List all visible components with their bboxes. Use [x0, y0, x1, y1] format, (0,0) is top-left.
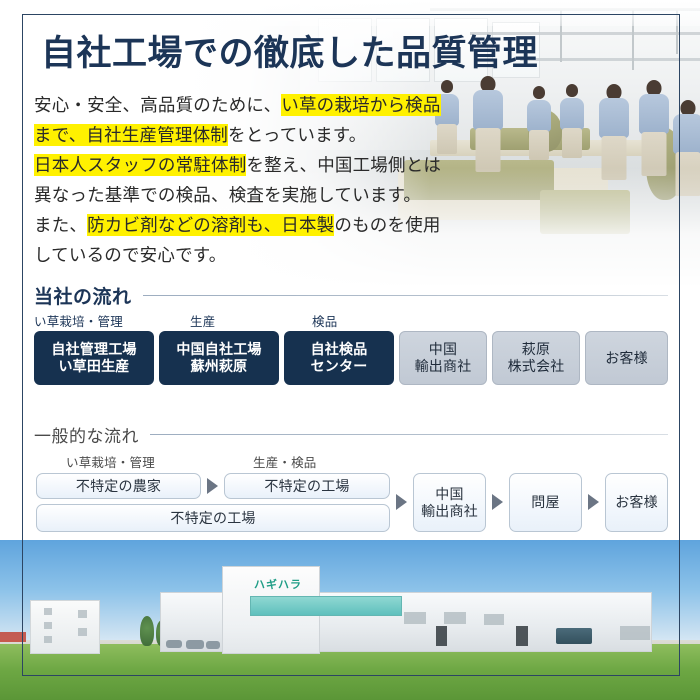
factory-exterior-photo: ハギハラ	[0, 540, 700, 700]
photo-fade-top	[0, 0, 700, 26]
flow-general-arrow-0	[207, 478, 218, 494]
flow-own-heading-row: 当社の流れ	[34, 282, 668, 309]
photo-tree	[140, 616, 154, 646]
page-title: 自社工場での徹底した品質管理	[41, 33, 538, 74]
photo-car	[166, 640, 182, 648]
photo-window	[484, 614, 504, 625]
highlighted-text: い草の栽培から検品	[281, 94, 440, 116]
highlighted-text: 防カビ剤などの溶剤も、日本製	[87, 214, 334, 236]
flow-general-heading: 一般的な流れ	[34, 422, 139, 447]
box-text: お客様	[615, 494, 658, 511]
box-text: 自社管理工場い草田生産	[51, 341, 136, 375]
photo-worker	[556, 84, 588, 176]
flow-own-column-label-1: 生産	[190, 311, 215, 330]
highlighted-text: まで、自社生産管理体制	[34, 124, 228, 146]
flow-own-box-2[interactable]: 自社検品センター	[284, 331, 394, 385]
box-text: お客様	[605, 350, 648, 367]
body-copy-line: しているので安心です。	[34, 240, 441, 270]
heading-rule	[150, 434, 668, 435]
flow-general-arrow-2	[492, 494, 503, 510]
box-text: 萩原株式会社	[508, 341, 565, 375]
body-copy-line: 日本人スタッフの常駐体制を整え、中国工場側とは	[34, 150, 441, 180]
photo-window	[404, 612, 426, 624]
flow-general-box-factory-top[interactable]: 不特定の工場	[224, 473, 390, 499]
flow-general-box-factory-wide[interactable]: 不特定の工場	[36, 504, 390, 532]
photo-window	[78, 628, 87, 636]
photo-window	[78, 610, 87, 618]
body-copy-line: 安心・安全、高品質のために、い草の栽培から検品	[34, 90, 441, 120]
flow-general-column-label-1: 生産・検品	[253, 452, 317, 471]
photo-car	[206, 641, 220, 649]
photo-glass-facade	[250, 596, 402, 616]
photo-car	[186, 640, 204, 649]
box-text: 不特定の工場	[264, 478, 349, 495]
infographic-page: 自社工場での徹底した品質管理 安心・安全、高品質のために、い草の栽培から検品まで…	[0, 0, 700, 700]
body-copy: 安心・安全、高品質のために、い草の栽培から検品まで、自社生産管理体制をとっていま…	[34, 90, 441, 270]
photo-window	[444, 612, 466, 624]
body-text: のものを使用	[334, 215, 440, 235]
flow-general-box-exporter[interactable]: 中国輸出商社	[413, 473, 486, 532]
box-text: 中国輸出商社	[415, 341, 472, 375]
body-copy-line: また、防カビ剤などの溶剤も、日本製のものを使用	[34, 210, 441, 240]
body-text: 安心・安全、高品質のために、	[34, 95, 281, 115]
photo-window	[44, 636, 52, 643]
company-logo-text: ハギハラ	[254, 576, 302, 592]
photo-window	[44, 608, 52, 615]
box-text: 問屋	[531, 494, 559, 511]
box-text: 不特定の農家	[76, 478, 161, 495]
box-text: 中国輸出商社	[421, 486, 478, 520]
heading-rule	[143, 295, 668, 296]
photo-truck	[556, 628, 592, 644]
flow-general-heading-row: 一般的な流れ	[34, 422, 668, 447]
flow-own-box-1[interactable]: 中国自社工場蘇州萩原	[159, 331, 279, 385]
flow-general-box-farm[interactable]: 不特定の農家	[36, 473, 201, 499]
flow-general-arrow-3	[588, 494, 599, 510]
photo-window	[620, 626, 650, 640]
highlighted-text: 日本人スタッフの常駐体制	[34, 154, 246, 176]
flow-own-box-3[interactable]: 中国輸出商社	[399, 331, 487, 385]
flow-general-arrow-1	[396, 494, 407, 510]
body-text: 異なった基準での検品、検査を実施しています。	[34, 185, 421, 205]
body-text: また、	[34, 215, 87, 235]
box-text: 自社検品センター	[311, 341, 368, 375]
flow-own-box-4[interactable]: 萩原株式会社	[492, 331, 580, 385]
flow-own-heading: 当社の流れ	[34, 282, 132, 309]
flow-general-column-label-0: い草栽培・管理	[66, 452, 155, 471]
photo-door	[516, 626, 528, 646]
flow-general-box-customer[interactable]: お客様	[605, 473, 668, 532]
body-text: をとっています。	[228, 125, 366, 145]
photo-office-building	[30, 600, 100, 654]
flow-own-box-0[interactable]: 自社管理工場い草田生産	[34, 331, 154, 385]
box-text: 中国自社工場蘇州萩原	[176, 341, 261, 375]
flow-own-column-label-2: 検品	[312, 311, 337, 330]
body-copy-line: 異なった基準での検品、検査を実施しています。	[34, 180, 441, 210]
flow-own-box-5[interactable]: お客様	[585, 331, 668, 385]
flow-own-column-label-0: い草栽培・管理	[34, 311, 123, 330]
body-text: を整え、中国工場側とは	[246, 155, 441, 175]
box-text: 不特定の工場	[170, 510, 255, 527]
photo-window	[44, 622, 52, 629]
photo-ceiling-beam	[520, 58, 700, 61]
flow-general-section: 一般的な流れ	[34, 422, 668, 447]
body-copy-line: まで、自社生産管理体制をとっています。	[34, 120, 441, 150]
flow-own-section: 当社の流れ	[34, 282, 668, 309]
photo-door	[436, 626, 447, 646]
flow-general-box-wholesaler[interactable]: 問屋	[509, 473, 582, 532]
photo-red-roof	[0, 632, 26, 642]
photo-grass	[0, 644, 700, 700]
body-text: しているので安心です。	[34, 245, 226, 265]
